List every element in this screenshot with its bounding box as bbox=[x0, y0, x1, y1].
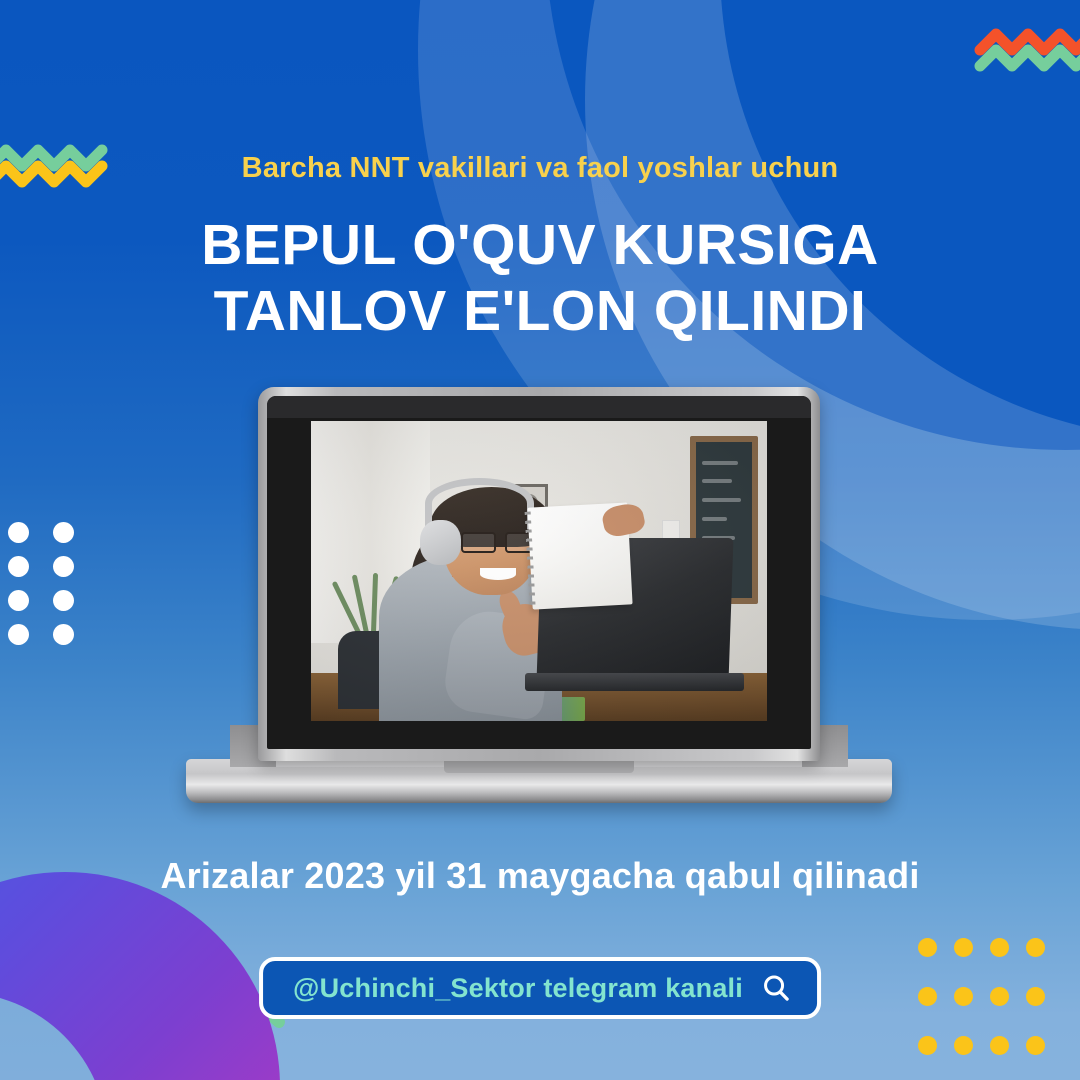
deadline-text: Arizalar 2023 yil 31 maygacha qabul qili… bbox=[0, 855, 1080, 897]
laptop-illustration bbox=[186, 387, 892, 819]
photo-person-smile bbox=[480, 568, 516, 580]
dot bbox=[954, 987, 973, 1006]
dot bbox=[53, 590, 74, 611]
screen-photo bbox=[311, 421, 767, 721]
dot bbox=[990, 987, 1009, 1006]
search-icon[interactable] bbox=[761, 973, 791, 1003]
eyebrow-text: Barcha NNT vakillari va faol yoshlar uch… bbox=[0, 152, 1080, 185]
dot bbox=[918, 938, 937, 957]
ring-outer bbox=[0, 872, 280, 1080]
dot-grid-left bbox=[8, 522, 98, 658]
dot bbox=[1026, 1036, 1045, 1055]
photo-desk-laptop-base bbox=[525, 673, 744, 691]
dot bbox=[990, 938, 1009, 957]
dot bbox=[53, 624, 74, 645]
dot bbox=[53, 522, 74, 543]
lens-left bbox=[461, 532, 495, 553]
dot bbox=[918, 987, 937, 1006]
chalk-line bbox=[702, 479, 731, 483]
page-title: BEPUL O'QUV KURSIGA TANLOV E'LON QILINDI bbox=[0, 212, 1080, 344]
dot bbox=[1026, 987, 1045, 1006]
dot bbox=[990, 1036, 1009, 1055]
laptop-screen bbox=[311, 421, 767, 721]
dot bbox=[8, 556, 29, 577]
decor-purple-ring bbox=[0, 872, 280, 1080]
headline-line-2: TANLOV E'LON QILINDI bbox=[0, 278, 1080, 344]
photo-headphones-cup bbox=[420, 520, 461, 565]
headline-line-1: BEPUL O'QUV KURSIGA bbox=[201, 213, 879, 277]
dot bbox=[8, 522, 29, 543]
laptop-bezel-top bbox=[267, 396, 811, 418]
chalk-line bbox=[702, 498, 740, 502]
telegram-channel-label: @Uchinchi_Sektor telegram kanali bbox=[293, 973, 743, 1004]
dot bbox=[53, 556, 74, 577]
dot bbox=[8, 590, 29, 611]
poster-canvas: Barcha NNT vakillari va faol yoshlar uch… bbox=[0, 0, 1080, 1080]
dot bbox=[1026, 938, 1045, 957]
dot bbox=[918, 1036, 937, 1055]
dot bbox=[954, 1036, 973, 1055]
ring-inner-cutout bbox=[0, 992, 108, 1080]
chalk-line bbox=[702, 517, 727, 521]
chalk-line bbox=[702, 461, 738, 465]
dot bbox=[954, 938, 973, 957]
telegram-channel-button[interactable]: @Uchinchi_Sektor telegram kanali bbox=[259, 957, 821, 1019]
laptop-bezel bbox=[267, 396, 811, 749]
dot-grid-bottom-right bbox=[918, 938, 1062, 1080]
laptop-lid bbox=[258, 387, 820, 761]
dot bbox=[8, 624, 29, 645]
